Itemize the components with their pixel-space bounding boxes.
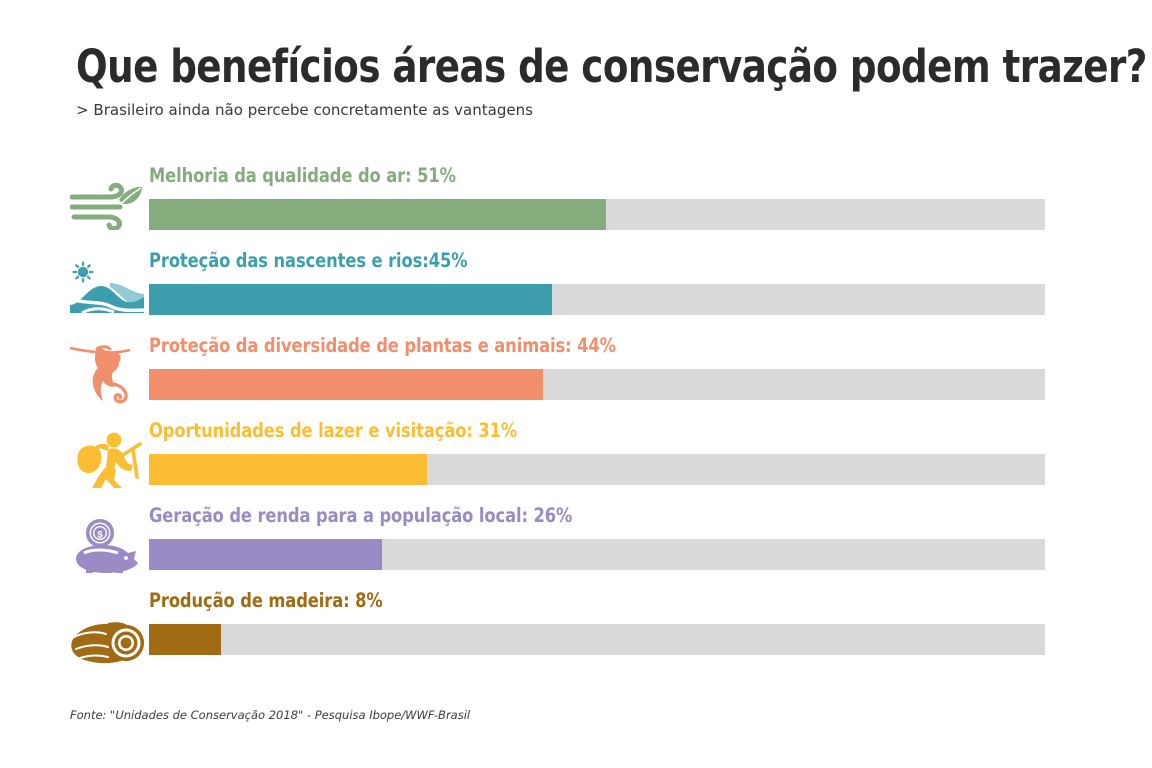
bar-label: Melhoria da qualidade do ar: 51%	[149, 165, 982, 187]
bar-area: Proteção das nascentes e rios:45%	[149, 250, 1045, 315]
bar-fill	[149, 454, 427, 485]
bar-rows: Melhoria da qualidade do ar: 51% Proteçã…	[0, 165, 1152, 682]
bar-row: $ Geração de renda para a população loca…	[0, 505, 1152, 590]
bar-track	[149, 199, 1045, 230]
bar-label: Produção de madeira: 8%	[149, 590, 982, 612]
bar-fill	[149, 624, 221, 655]
bar-fill	[149, 539, 382, 570]
bar-row: Proteção da diversidade de plantas e ani…	[0, 335, 1152, 420]
bar-fill	[149, 284, 552, 315]
sun-hills-river-icon	[68, 258, 146, 320]
log-icon	[68, 608, 146, 670]
bar-area: Melhoria da qualidade do ar: 51%	[149, 165, 1045, 230]
bar-fill	[149, 369, 543, 400]
bar-track	[149, 539, 1045, 570]
bar-track	[149, 284, 1045, 315]
piggy-bank-icon: $	[68, 513, 146, 575]
bar-label: Proteção da diversidade de plantas e ani…	[149, 335, 982, 357]
bar-area: Oportunidades de lazer e visitação: 31%	[149, 420, 1045, 485]
bar-area: Produção de madeira: 8%	[149, 590, 1045, 655]
bar-area: Proteção da diversidade de plantas e ani…	[149, 335, 1045, 400]
bar-row: Oportunidades de lazer e visitação: 31%	[0, 420, 1152, 505]
chart-header: Que benefícios áreas de conservação pode…	[76, 42, 1086, 120]
bar-row: Produção de madeira: 8%	[0, 590, 1152, 682]
bar-label: Oportunidades de lazer e visitação: 31%	[149, 420, 982, 442]
page-title: Que benefícios áreas de conservação pode…	[76, 42, 1005, 92]
bar-row: Proteção das nascentes e rios:45%	[0, 250, 1152, 335]
bar-row: Melhoria da qualidade do ar: 51%	[0, 165, 1152, 250]
page-subtitle: > Brasileiro ainda não percebe concretam…	[76, 101, 1056, 120]
bar-track	[149, 369, 1045, 400]
bar-fill	[149, 199, 606, 230]
bar-area: Geração de renda para a população local:…	[149, 505, 1045, 570]
monkey-icon	[68, 343, 146, 405]
bar-label: Geração de renda para a população local:…	[149, 505, 982, 527]
svg-text:$: $	[97, 529, 103, 540]
bar-label: Proteção das nascentes e rios:45%	[149, 250, 982, 272]
source-note: Fonte: "Unidades de Conservação 2018" - …	[70, 708, 470, 722]
wind-leaf-icon	[68, 173, 146, 235]
hiker-icon	[68, 428, 146, 490]
bar-track	[149, 624, 1045, 655]
bar-track	[149, 454, 1045, 485]
infographic-chart: Que benefícios áreas de conservação pode…	[0, 0, 1152, 768]
